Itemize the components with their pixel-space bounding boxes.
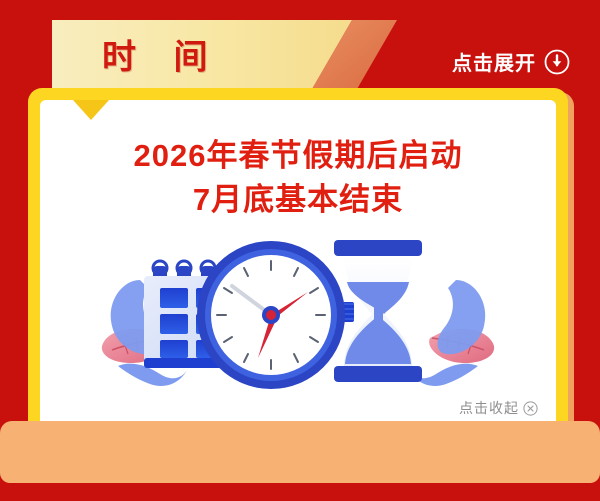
headline-line-1: 2026年春节假期后启动: [134, 138, 463, 173]
banner-title: 时 间: [102, 40, 221, 74]
triangle-down-marker: [73, 100, 109, 120]
expand-label: 点击展开: [452, 47, 536, 76]
time-illustration: [40, 220, 556, 400]
expand-button[interactable]: 点击展开: [452, 47, 570, 76]
circle-close-icon[interactable]: [523, 401, 538, 416]
section-banner: 时 间: [52, 20, 397, 95]
screen-root: 时 间 点击展开 2026年春节假期后启动 7月底基本结束: [0, 0, 600, 501]
card-frame: 2026年春节假期后启动 7月底基本结束: [28, 88, 568, 438]
circle-arrow-down-icon[interactable]: [544, 49, 570, 75]
collapse-button[interactable]: 点击收起: [459, 398, 538, 418]
header-bar: 时 间 点击展开: [0, 0, 600, 97]
collapse-label: 点击收起: [459, 398, 519, 418]
page-title: 2026年春节假期后启动 7月底基本结束: [40, 134, 556, 222]
card-body: 2026年春节假期后启动 7月底基本结束: [40, 100, 556, 426]
clock-icon: [197, 241, 354, 389]
bottom-accent-bar: [0, 421, 600, 483]
headline-line-2: 7月底基本结束: [40, 178, 556, 222]
illustration-artwork: [98, 220, 498, 400]
